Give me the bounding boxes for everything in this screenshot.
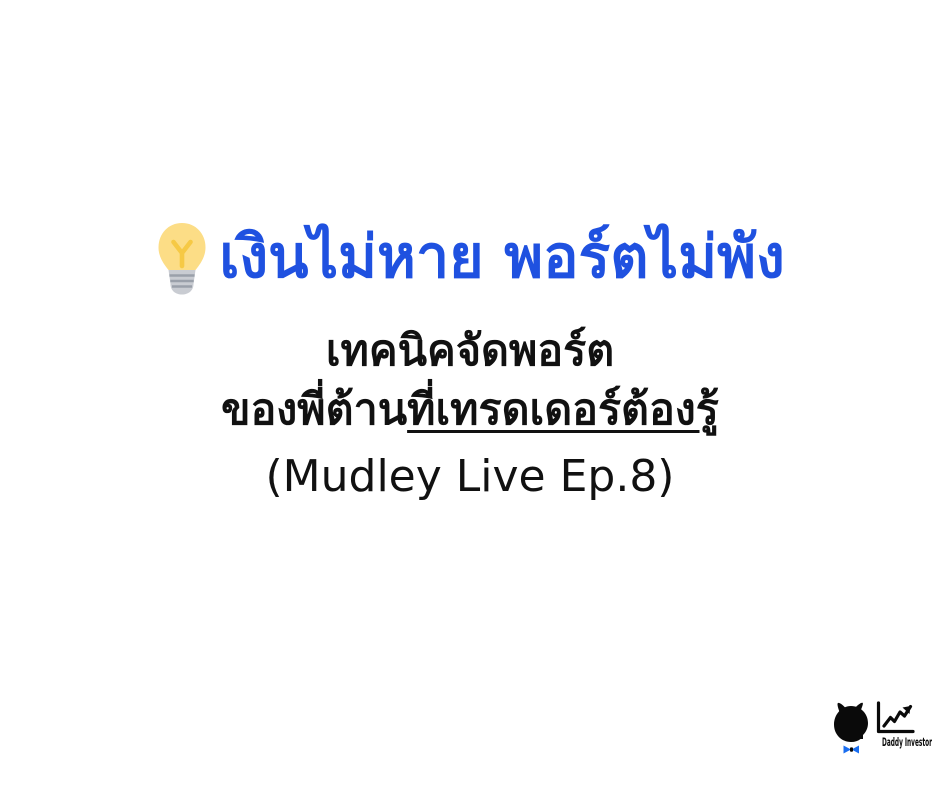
daddy-investor-logo: Daddy Investor: [830, 700, 934, 758]
logo-wordmark: Daddy Investor: [882, 735, 932, 749]
subheadline-line-1: เทคนิคจัดพอร์ต: [0, 327, 940, 375]
headline-row: เงินไม่หาย พอร์ตไม่พัง: [0, 214, 940, 300]
slide-canvas: เงินไม่หาย พอร์ตไม่พัง เทคนิคจัดพอร์ต ขอ…: [0, 0, 940, 788]
subheadline-line-3: (Mudley Live Ep.8): [0, 452, 940, 501]
light-bulb-icon: [155, 220, 209, 300]
subheadline-line-2-plain: ของพี่ต้าน: [221, 385, 407, 435]
headline-title: เงินไม่หาย พอร์ตไม่พัง: [219, 225, 785, 289]
bowtie-icon: [844, 746, 860, 754]
subheadline-line-2: ของพี่ต้านที่เทรดเดอร์ต้องรู้: [0, 386, 940, 434]
subheadline-line-2-underlined: ที่เทรดเดอร์ต้องรู้: [407, 385, 719, 435]
head-silhouette-icon: [834, 703, 868, 742]
